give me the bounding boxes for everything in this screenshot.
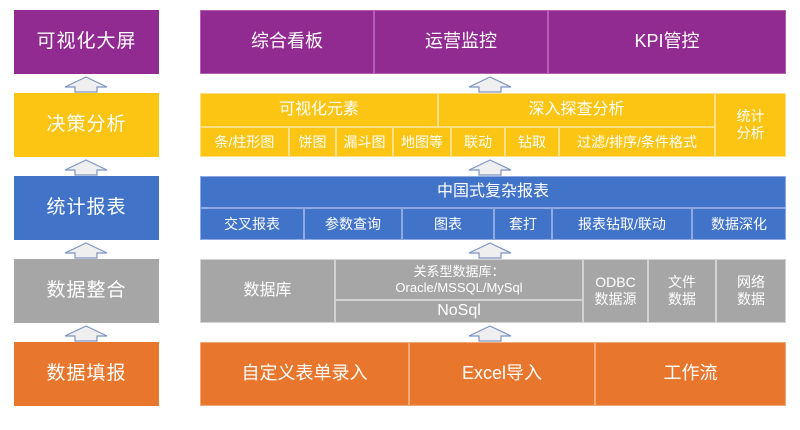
cell-operation-monitoring[interactable]: 运营监控 [374,10,548,74]
cell-label: 文件 数据 [668,274,696,307]
cell-bar-column-chart[interactable]: 条/柱形图 [200,127,289,157]
up-arrow-icon [468,325,512,342]
stage-data-integration[interactable]: 数据整合 [14,259,159,323]
cell-label: 网络 数据 [737,274,765,307]
group-title-label: 中国式复杂报表 [437,183,549,202]
cell-map-etc[interactable]: 地图等 [393,127,451,157]
up-arrow-icon [468,242,512,259]
row-statistical-report: 中国式复杂报表 交叉报表 参数查询 图表 套打 报表钻取/联动 数据深化 [200,176,786,240]
up-arrow-icon [468,159,512,176]
cell-report-drill-linkage[interactable]: 报表钻取/联动 [552,208,692,240]
cell-comprehensive-dashboard[interactable]: 综合看板 [200,10,374,74]
cell-label: 参数查询 [325,216,381,233]
cell-label: 自定义表单录入 [242,363,368,384]
cell-filter-sort-conditional-format[interactable]: 过滤/排序/条件格式 [559,127,715,157]
cell-overprint[interactable]: 套打 [494,208,552,240]
cell-label: Excel导入 [462,363,542,384]
group-title-chinese-complex-report[interactable]: 中国式复杂报表 [200,176,786,208]
group-title-visual-elements[interactable]: 可视化元素 [200,93,438,127]
cell-drill-down[interactable]: 钻取 [505,127,559,157]
row-decision-analysis: 可视化元素 深入探查分析 统计 分析 条/柱形图 饼图 漏斗图 地图等 联动 钻… [200,93,786,157]
stage-label: 数据填报 [46,363,126,385]
cell-pie-chart[interactable]: 饼图 [289,127,336,157]
cell-workflow[interactable]: 工作流 [595,342,786,406]
stage-visual-screen[interactable]: 可视化大屏 [14,10,159,74]
cell-label: 工作流 [664,363,718,384]
cell-label: 漏斗图 [344,134,386,151]
cell-relational-database[interactable]: 关系型数据库： Oracle/MSSQL/MySql [335,259,583,300]
cell-label: 综合看板 [251,31,323,52]
group-title-label: 深入探查分析 [528,101,624,120]
cell-label: 报表钻取/联动 [578,216,666,233]
cell-excel-import[interactable]: Excel导入 [409,342,595,406]
cell-data-deepening[interactable]: 数据深化 [692,208,786,240]
up-arrow-icon [64,159,108,176]
cell-odbc-data-source[interactable]: ODBC 数据源 [583,259,648,323]
cell-label: NoSql [437,302,481,321]
cell-label: 联动 [464,134,492,151]
stage-decision-analysis[interactable]: 决策分析 [14,93,159,157]
cell-chart[interactable]: 图表 [402,208,494,240]
cell-linkage[interactable]: 联动 [451,127,505,157]
cell-label: 数据库 [243,282,291,301]
architecture-diagram: 可视化大屏 决策分析 统计报表 数据整合 数据填报 综合看板 运营监控 KPI管… [0,0,800,430]
cell-label: 钻取 [518,134,546,151]
group-title-label: 可视化元素 [279,101,359,120]
cell-label: 地图等 [401,134,443,151]
cell-file-data[interactable]: 文件 数据 [648,259,716,323]
row-visual-screen: 综合看板 运营监控 KPI管控 [200,10,786,74]
cell-network-data[interactable]: 网络 数据 [716,259,786,323]
up-arrow-icon [468,76,512,93]
group-title-deep-analysis[interactable]: 深入探查分析 [438,93,715,127]
cell-label: 统计 分析 [737,108,765,141]
up-arrow-icon [64,325,108,342]
row-data-entry: 自定义表单录入 Excel导入 工作流 [200,342,786,406]
up-arrow-icon [64,76,108,93]
cell-label: 数据深化 [711,216,767,233]
stage-label: 统计报表 [46,197,126,219]
cell-database[interactable]: 数据库 [200,259,335,323]
cell-label: ODBC 数据源 [595,274,637,307]
row-data-integration: 数据库 关系型数据库： Oracle/MSSQL/MySql NoSql ODB… [200,259,786,323]
up-arrow-icon [64,242,108,259]
stage-label: 可视化大屏 [36,31,136,53]
cell-parameter-query[interactable]: 参数查询 [304,208,402,240]
cell-custom-form-entry[interactable]: 自定义表单录入 [200,342,409,406]
cell-label: 关系型数据库： Oracle/MSSQL/MySql [395,264,522,295]
stage-label: 决策分析 [46,114,126,136]
cell-funnel-chart[interactable]: 漏斗图 [336,127,393,157]
stage-data-entry[interactable]: 数据填报 [14,342,159,406]
cell-label: 过滤/排序/条件格式 [577,134,697,151]
cell-label: 交叉报表 [224,216,280,233]
cell-kpi-control[interactable]: KPI管控 [548,10,786,74]
stage-label: 数据整合 [46,280,126,302]
cell-label: 图表 [434,216,462,233]
cell-label: 套打 [509,216,537,233]
cell-nosql[interactable]: NoSql [335,300,583,323]
cell-cross-report[interactable]: 交叉报表 [200,208,304,240]
cell-label: 运营监控 [425,31,497,52]
cell-label: 饼图 [299,134,327,151]
cell-statistical-analysis[interactable]: 统计 分析 [715,93,786,157]
stage-statistical-report[interactable]: 统计报表 [14,176,159,240]
cell-label: 条/柱形图 [215,134,275,151]
cell-label: KPI管控 [634,31,699,52]
